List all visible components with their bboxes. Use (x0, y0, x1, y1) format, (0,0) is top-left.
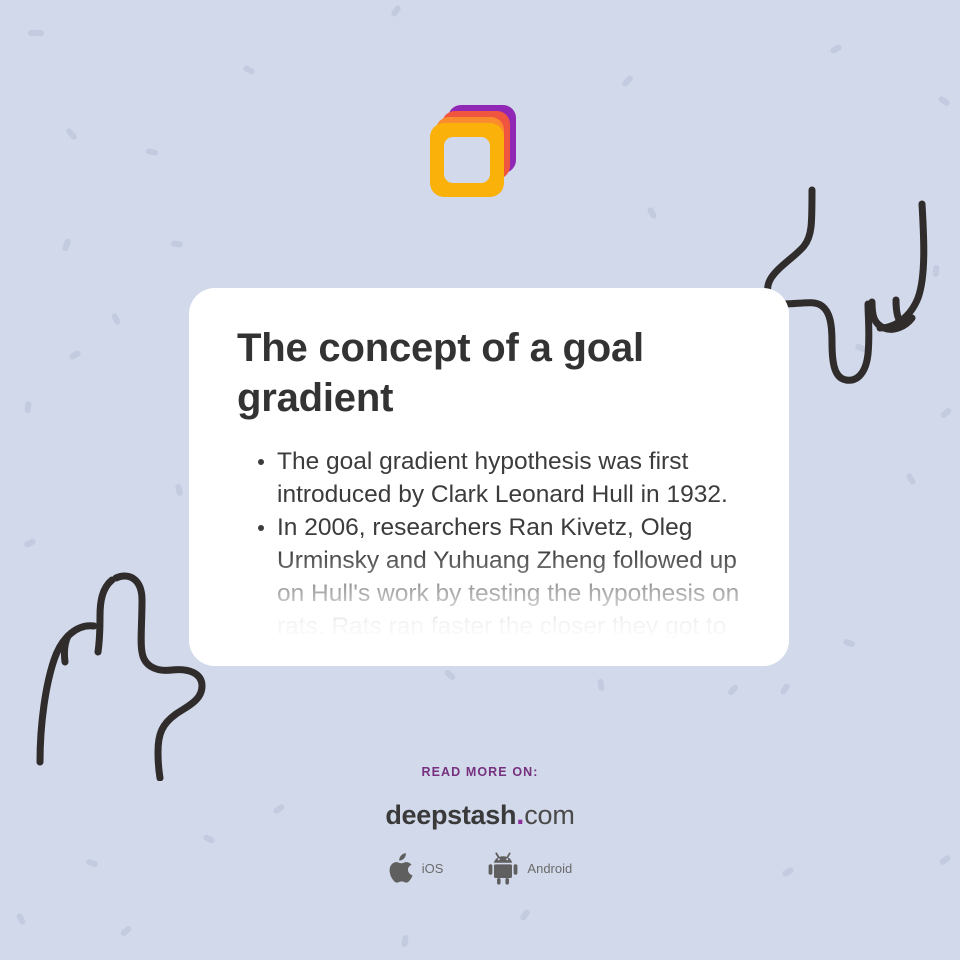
deepstash-wordmark[interactable]: deepstash.com (0, 800, 960, 830)
confetti-speck (24, 401, 32, 414)
wordmark-tld: com (524, 800, 574, 830)
doodle-stroke (896, 300, 901, 323)
ios-label: iOS (422, 861, 444, 876)
confetti-speck (727, 684, 740, 697)
confetti-speck (390, 4, 402, 17)
android-icon (487, 852, 519, 885)
confetti-speck (61, 238, 71, 252)
confetti-speck (28, 30, 44, 37)
app-store-badges: iOS Android (0, 852, 960, 885)
stash-card-content: The concept of a goal gradient The goal … (189, 288, 789, 643)
confetti-speck (779, 682, 790, 695)
doodle-stroke (64, 636, 68, 662)
list-item: The goal gradient hypothesis was first i… (237, 445, 745, 511)
confetti-speck (597, 679, 605, 692)
android-label: Android (527, 861, 572, 876)
confetti-speck (519, 908, 531, 921)
confetti-speck (842, 638, 855, 647)
deepstash-logo (430, 105, 516, 197)
confetti-speck (242, 64, 255, 75)
page-title: The concept of a goal gradient (237, 323, 745, 423)
confetti-speck (939, 407, 952, 419)
android-badge[interactable]: Android (487, 852, 572, 885)
list-item: In 2006, researchers Ran Kivetz, Oleg Ur… (237, 511, 745, 643)
footer: READ MORE ON: deepstash.com iOS (0, 765, 960, 885)
apple-icon (388, 853, 414, 884)
confetti-speck (119, 925, 132, 937)
logo-center-cutout (444, 137, 490, 183)
doodle-stroke (98, 580, 112, 652)
confetti-speck (16, 912, 27, 925)
ios-badge[interactable]: iOS (388, 853, 444, 884)
confetti-speck (621, 74, 634, 88)
confetti-speck (111, 312, 122, 325)
doodle-stroke (880, 204, 924, 328)
stash-bullet-list: The goal gradient hypothesis was first i… (237, 445, 745, 643)
confetti-speck (854, 343, 867, 353)
doodle-stroke (40, 626, 94, 762)
confetti-speck (932, 265, 939, 277)
confetti-speck (23, 538, 36, 549)
confetti-speck (646, 206, 657, 219)
stash-card[interactable]: The concept of a goal gradient The goal … (189, 288, 789, 666)
confetti-speck (937, 95, 950, 107)
confetti-speck (444, 669, 457, 681)
wordmark-name: deepstash (385, 800, 516, 830)
confetti-speck (171, 240, 183, 247)
confetti-speck (68, 349, 81, 360)
share-card-canvas: The concept of a goal gradient The goal … (0, 0, 960, 960)
confetti-speck (829, 43, 842, 54)
doodle-stroke (872, 302, 912, 329)
confetti-speck (905, 472, 916, 485)
read-more-label: READ MORE ON: (0, 765, 960, 779)
confetti-speck (65, 127, 78, 141)
confetti-speck (401, 935, 409, 948)
confetti-speck (146, 148, 159, 156)
confetti-speck (175, 483, 184, 496)
